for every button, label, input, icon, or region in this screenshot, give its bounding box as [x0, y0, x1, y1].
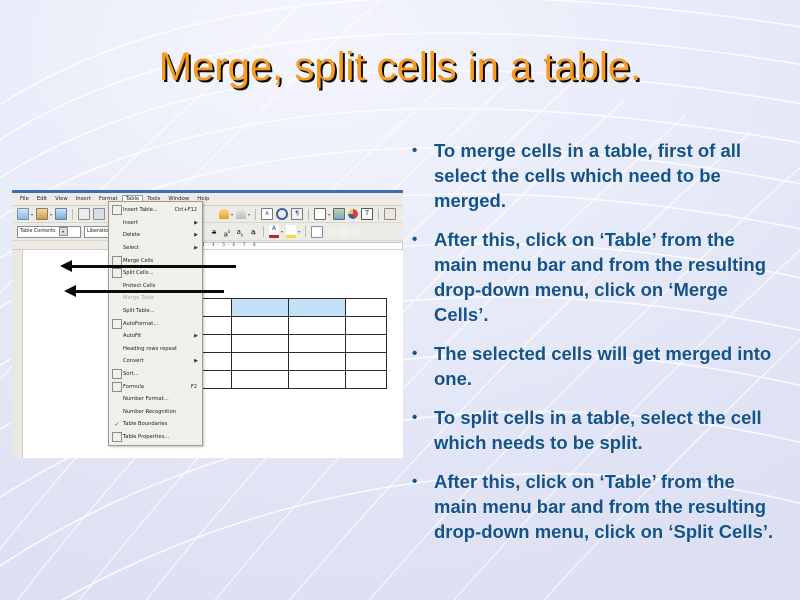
bullet-marker: • [406, 227, 434, 253]
footnote-icon[interactable] [384, 208, 396, 220]
superscript-icon[interactable]: ab [222, 227, 232, 237]
chevron-down-icon[interactable]: ▾ [328, 212, 330, 217]
table-cell[interactable] [232, 353, 289, 371]
application-menubar[interactable]: FileEditViewInsertFormatTableToolsWindow… [12, 193, 403, 206]
table-dropdown-menu[interactable]: Insert Table...Ctrl+F12Insert▶Delete▶Sel… [108, 201, 203, 446]
bullet-text: After this, click on ‘Table’ from the ma… [434, 469, 776, 544]
menu-item-autofit[interactable]: AutoFit▶ [109, 330, 202, 343]
spelling-icon[interactable]: A [261, 208, 273, 220]
menu-item-formula[interactable]: FormulaF2 [109, 380, 202, 393]
menu-item-label: Convert [123, 358, 202, 364]
bullet-marker: • [406, 138, 434, 164]
bullet-marker: • [406, 341, 434, 367]
sort-icon [111, 369, 123, 379]
table-properties-icon [111, 432, 123, 442]
submenu-arrow-icon: ▶ [194, 333, 198, 339]
menubar-item-view[interactable]: View [51, 195, 72, 203]
embedded-screenshot: FileEditViewInsertFormatTableToolsWindow… [12, 190, 403, 458]
paragraph-style-combo[interactable]: Table Contents ▾ [17, 226, 81, 238]
chevron-down-icon[interactable]: ▾ [281, 229, 283, 234]
arrow-head-icon [64, 285, 76, 297]
menu-item-label: AutoFormat... [123, 321, 202, 327]
arrow-shaft [74, 290, 224, 293]
font-color-icon[interactable]: A [269, 225, 279, 238]
menu-item-label: Protect Cells [123, 283, 202, 289]
insert-table-icon[interactable] [314, 208, 326, 220]
new-document-icon[interactable] [17, 208, 29, 220]
submenu-arrow-icon: ▶ [194, 220, 198, 226]
menu-item-label: Split Cells... [123, 270, 202, 276]
print-icon[interactable] [93, 208, 105, 220]
menu-item-shortcut: Ctrl+F12 [175, 207, 202, 213]
menu-item-convert[interactable]: Convert▶ [109, 355, 202, 368]
chevron-down-icon[interactable]: ▾ [298, 229, 300, 234]
menu-item-label: Sort... [123, 371, 202, 377]
menu-item-merge-table: Merge Table [109, 292, 202, 305]
font-name-value: Liberatio [87, 229, 108, 234]
menu-item-shortcut: F2 [191, 384, 202, 390]
menu-item-table-boundaries[interactable]: ✓Table Boundaries [109, 418, 202, 431]
table-row[interactable] [191, 371, 387, 389]
menu-item-label: Split Table... [123, 308, 202, 314]
bullet-text: To split cells in a table, select the ce… [434, 405, 776, 455]
arrow-head-icon [60, 260, 72, 272]
table-cell[interactable] [346, 371, 387, 389]
bullet-list: • To merge cells in a table, first of al… [406, 138, 776, 558]
standard-toolbar[interactable]: ▾ ▾ ▾ ▾ A ¶ ▾ T [12, 206, 403, 223]
align-center-icon[interactable] [326, 227, 336, 237]
bullet-item-3: • The selected cells will get merged int… [406, 341, 776, 391]
table-cell[interactable] [232, 317, 289, 335]
table-row[interactable] [191, 299, 387, 317]
table-cell[interactable] [346, 317, 387, 335]
toolbar-separator [263, 226, 264, 237]
insert-table-icon [111, 205, 123, 215]
table-row[interactable] [191, 335, 387, 353]
bullet-item-1: • To merge cells in a table, first of al… [406, 138, 776, 213]
bullet-item-5: • After this, click on ‘Table’ from the … [406, 469, 776, 544]
table-cell[interactable] [289, 353, 346, 371]
bullet-text: After this, click on ‘Table’ from the ma… [434, 227, 776, 327]
menu-item-insert-table[interactable]: Insert Table...Ctrl+F12 [109, 204, 202, 217]
split-cells-icon [111, 268, 123, 278]
table-cell[interactable] [346, 353, 387, 371]
redo-icon[interactable] [236, 209, 246, 219]
menubar-item-file[interactable]: File [16, 195, 33, 203]
toolbar-separator [255, 209, 256, 220]
document-left-margin [12, 250, 23, 458]
check-icon: ✓ [111, 421, 123, 428]
menu-item-insert[interactable]: Insert▶ [109, 217, 202, 230]
menu-item-label: Formula [123, 384, 191, 390]
menu-item-sort[interactable]: Sort... [109, 368, 202, 381]
document-canvas[interactable] [12, 250, 403, 458]
bullet-item-4: • To split cells in a table, select the … [406, 405, 776, 455]
table-cell[interactable] [346, 299, 387, 317]
table-cell[interactable] [232, 335, 289, 353]
menu-item-label: Number Format... [123, 396, 202, 402]
table-cell[interactable] [289, 317, 346, 335]
formatting-marks-icon[interactable]: ¶ [291, 208, 303, 220]
menu-item-label: Insert Table... [123, 207, 175, 213]
menubar-item-insert[interactable]: Insert [72, 195, 95, 203]
menubar-item-edit[interactable]: Edit [33, 195, 51, 203]
undo-icon[interactable] [219, 209, 229, 219]
highlight-color-icon[interactable] [286, 225, 296, 238]
shadow-icon[interactable]: a [248, 227, 258, 237]
submenu-arrow-icon: ▶ [194, 232, 198, 238]
align-right-icon[interactable] [339, 227, 349, 237]
toolbar-separator [308, 209, 309, 220]
formula-icon [111, 382, 123, 392]
chevron-down-icon[interactable]: ▾ [231, 212, 233, 217]
align-justify-icon[interactable] [352, 227, 362, 237]
table-cell[interactable] [289, 371, 346, 389]
bullet-text: To merge cells in a table, first of all … [434, 138, 776, 213]
menu-item-label: Merge Table [123, 295, 202, 301]
bullet-text: The selected cells will get merged into … [434, 341, 776, 391]
export-pdf-icon[interactable] [78, 208, 90, 220]
table-cell[interactable] [232, 371, 289, 389]
bullet-marker: • [406, 405, 434, 431]
menu-item-label: Number Recognition [123, 409, 202, 415]
menu-item-label: AutoFit [123, 333, 202, 339]
strikethrough-icon[interactable]: a [209, 227, 219, 237]
menu-item-heading-rows-repeat[interactable]: Heading rows repeat [109, 343, 202, 356]
menu-item-label: Insert [123, 220, 202, 226]
toolbar-separator [72, 209, 73, 220]
chevron-down-icon[interactable]: ▾ [248, 212, 250, 217]
save-icon[interactable] [55, 208, 67, 220]
toolbar-separator [378, 209, 379, 220]
table-cell-selected[interactable] [289, 299, 346, 317]
align-left-icon[interactable] [311, 226, 323, 238]
autoformat-icon [111, 319, 123, 329]
insert-chart-icon[interactable] [348, 209, 358, 219]
document-table[interactable] [190, 298, 387, 389]
subscript-icon[interactable]: ab [235, 227, 245, 237]
table-cell-selected[interactable] [232, 299, 289, 317]
toolbar-separator [305, 226, 306, 237]
menu-item-label: Select [123, 245, 202, 251]
bullet-item-2: • After this, click on ‘Table’ from the … [406, 227, 776, 327]
menu-item-select[interactable]: Select▶ [109, 242, 202, 255]
submenu-arrow-icon: ▶ [194, 245, 198, 251]
menu-item-autoformat[interactable]: AutoFormat... [109, 317, 202, 330]
table-cell[interactable] [346, 335, 387, 353]
text-box-icon[interactable]: T [361, 208, 373, 220]
submenu-arrow-icon: ▶ [194, 358, 198, 364]
menu-item-number-format[interactable]: Number Format... [109, 393, 202, 406]
table-row[interactable] [191, 317, 387, 335]
menu-item-label: Delete [123, 232, 202, 238]
menu-item-label: Merge Cells [123, 258, 202, 264]
chevron-down-icon[interactable]: ▾ [31, 212, 33, 217]
chevron-down-icon[interactable]: ▾ [50, 212, 52, 217]
bullet-marker: • [406, 469, 434, 495]
paragraph-style-value: Table Contents [20, 229, 56, 234]
menu-item-split-cells[interactable]: Split Cells... [109, 267, 202, 280]
menu-item-delete[interactable]: Delete▶ [109, 229, 202, 242]
table-row[interactable] [191, 353, 387, 371]
menu-item-label: Table Properties... [123, 434, 202, 440]
formatting-toolbar[interactable]: Table Contents ▾ Liberatio a a ab ab a A… [12, 223, 403, 241]
menu-item-split-table[interactable]: Split Table... [109, 305, 202, 318]
slide-title: Merge, split cells in a table. [0, 45, 800, 90]
menu-item-label: Table Boundaries [123, 421, 202, 427]
horizontal-ruler[interactable]: ·1·2·3·4·5·6·7·8 [12, 241, 403, 250]
insert-image-icon[interactable] [333, 208, 345, 220]
find-replace-icon[interactable] [276, 208, 288, 220]
table-cell[interactable] [289, 335, 346, 353]
chevron-down-icon[interactable]: ▾ [59, 227, 68, 236]
menu-item-number-recognition[interactable]: Number Recognition [109, 406, 202, 419]
arrow-shaft [70, 265, 236, 268]
menu-item-label: Heading rows repeat [123, 346, 202, 352]
menu-item-table-properties[interactable]: Table Properties... [109, 431, 202, 444]
open-document-icon[interactable] [36, 208, 48, 220]
